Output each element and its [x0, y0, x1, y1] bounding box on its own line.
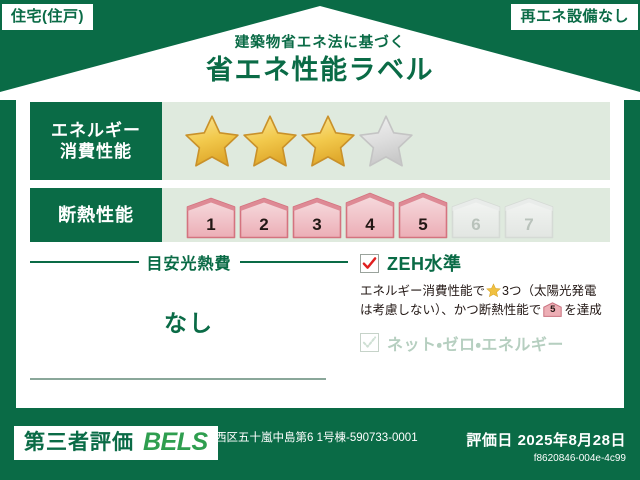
- insulation-step-6: 6: [451, 197, 501, 239]
- star-rating: [184, 113, 414, 169]
- insulation-step-number: 7: [504, 215, 554, 235]
- badge-renewable-equipment: 再エネ設備なし: [511, 4, 638, 30]
- insulation-step-number: 5: [398, 215, 448, 235]
- star-filled-icon: [184, 113, 240, 169]
- insulation-step-number: 1: [186, 215, 236, 235]
- bels-wordmark: BELS: [143, 430, 208, 455]
- insulation-step-3: 3: [292, 197, 342, 239]
- zeh-column: ZEH水準 エネルギー消費性能で3つ（太陽光発電 は考慮しない）、かつ断熱性能で…: [360, 250, 610, 355]
- insulation-label: 断熱性能: [58, 204, 134, 227]
- evaluation-id: f8620846-004e-4c99: [466, 453, 626, 464]
- insulation-scale: 1234567: [184, 192, 554, 239]
- zeh-heading: ZEH水準: [360, 250, 610, 276]
- bels-logo: 第三者評価 BELS: [14, 426, 218, 460]
- energy-label-line2: 消費性能: [60, 141, 132, 162]
- insulation-step-number: 4: [345, 215, 395, 235]
- zeh-desc-part2: は考慮しない）、かつ断熱性能で: [360, 303, 541, 317]
- star-empty-icon: [358, 113, 414, 169]
- energy-performance-value: [162, 102, 610, 180]
- insulation-performance-row: 断熱性能 1234567: [30, 188, 610, 242]
- energy-performance-label-box: エネルギー 消費性能: [30, 102, 162, 180]
- insulation-step-7: 7: [504, 197, 554, 239]
- star-filled-icon: [300, 113, 356, 169]
- insulation-step-5: 5: [398, 192, 448, 239]
- lower-section: 目安光熱費 なし ZEH水準 エネルギー消費性能で3つ（太陽光発電: [30, 250, 610, 396]
- insulation-performance-value: 1234567: [162, 188, 610, 242]
- zeh-desc-part1: エネルギー消費性能で: [360, 284, 485, 298]
- main-card: エネルギー 消費性能 断熱性能 1234567 目安光熱費: [16, 88, 624, 408]
- page-title: 省エネ性能ラベル: [0, 54, 640, 88]
- utility-cost-underline: [30, 378, 326, 380]
- zeh-checkbox[interactable]: [360, 254, 379, 273]
- zeh-title: ZEH水準: [387, 250, 462, 276]
- insulation-step-number: 3: [292, 215, 342, 235]
- zeh-desc-part3: を達成: [564, 303, 602, 317]
- badge-building-type: 住宅(住戸): [2, 4, 93, 30]
- insulation-step-number: 6: [451, 215, 501, 235]
- check-icon: [362, 256, 377, 271]
- utility-cost-value: なし: [30, 304, 348, 338]
- energy-performance-label: 建築物省エネ法に基づく 省エネ性能ラベル 住宅(住戸) 再エネ設備なし エネルギ…: [0, 0, 640, 480]
- rule-right: [240, 261, 349, 263]
- energy-performance-row: エネルギー 消費性能: [30, 102, 610, 180]
- net-zero-checkbox[interactable]: [360, 333, 379, 352]
- insulation-step-1: 1: [186, 197, 236, 239]
- evaluation-info: 評価日 2025年8月28日 f8620846-004e-4c99: [466, 429, 626, 464]
- title-subtitle: 建築物省エネ法に基づく: [0, 36, 640, 52]
- utility-cost-heading-text: 目安光熱費: [147, 250, 232, 274]
- net-zero-energy-row: ネット・ゼロ・エネルギー: [360, 331, 610, 355]
- utility-cost-heading: 目安光熱費: [30, 250, 348, 274]
- building-address: 西区五十嵐中島第6 1号棟-590733-0001: [215, 430, 450, 447]
- utility-cost-column: 目安光熱費 なし: [30, 250, 348, 380]
- insulation-step-2: 2: [239, 197, 289, 239]
- insulation-step-4: 4: [345, 192, 395, 239]
- evaluation-date: 評価日 2025年8月28日: [466, 429, 626, 450]
- energy-label-line1: エネルギー: [51, 120, 141, 141]
- check-icon-disabled: [362, 335, 377, 350]
- footer: 第三者評価 BELS 西区五十嵐中島第6 1号棟-590733-0001 評価日…: [0, 420, 640, 480]
- rule-left: [30, 261, 139, 263]
- zeh-desc-stars: 3つ（太陽光発電: [502, 284, 596, 298]
- inline-house-icon: 5: [543, 302, 562, 317]
- inline-house-number: 5: [543, 303, 562, 318]
- zeh-description: エネルギー消費性能で3つ（太陽光発電 は考慮しない）、かつ断熱性能で5を達成: [360, 282, 610, 321]
- insulation-step-number: 2: [239, 215, 289, 235]
- title-block: 建築物省エネ法に基づく 省エネ性能ラベル: [0, 36, 640, 88]
- inline-star-icon: [486, 283, 501, 298]
- insulation-performance-label-box: 断熱性能: [30, 188, 162, 242]
- net-zero-energy-label: ネット・ゼロ・エネルギー: [387, 331, 564, 355]
- third-party-evaluation-text: 第三者評価: [24, 432, 134, 453]
- star-filled-icon: [242, 113, 298, 169]
